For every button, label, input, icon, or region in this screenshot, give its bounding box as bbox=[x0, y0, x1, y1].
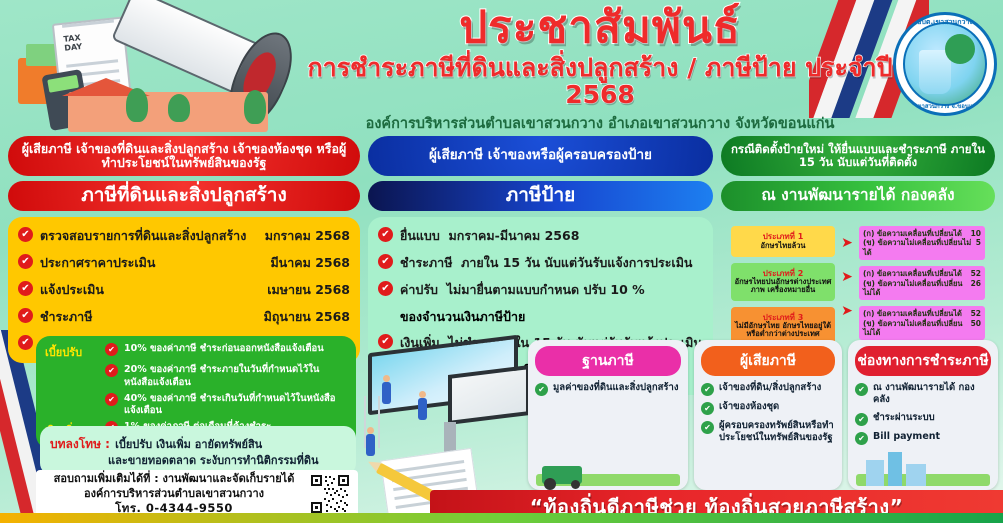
list-item-label: เจ้าของห้องชุด bbox=[719, 401, 779, 415]
billboard-secondary-icon bbox=[448, 365, 530, 425]
check-icon: ✔ bbox=[378, 281, 393, 296]
contact-text: สอบถามเพิ่มเติมได้ที่ : งานพัฒนาและจัดเก… bbox=[44, 472, 304, 516]
sign-category: ประเภทที่ 2 อักษรไทยปนอักษรต่างประเทศภาพ… bbox=[731, 263, 835, 301]
list-item-label: ยื่นแบบ bbox=[400, 228, 440, 243]
list-item-value: มิถุนายน 2568 bbox=[264, 307, 350, 327]
check-icon: ✔ bbox=[855, 413, 868, 426]
rate-label: (ก) ข้อความเคลื่อนที่เปลี่ยนได้ bbox=[863, 309, 962, 318]
list-item-label: Bill payment bbox=[873, 431, 940, 445]
contact-line-1: สอบถามเพิ่มเติมได้ที่ : งานพัฒนาและจัดเก… bbox=[44, 472, 304, 486]
city-illustration bbox=[856, 448, 990, 486]
list-item-value: มกราคม 2568 bbox=[265, 226, 350, 246]
list-item-label: ค่าปรับ bbox=[400, 282, 438, 297]
rate-value: 26 bbox=[971, 279, 981, 298]
poster-header: TAXDAY ประชาสัมพันธ์ การชำระภาษีที่ดินแล… bbox=[0, 0, 1003, 130]
list-item: ✔ มูลค่าของที่ดินและสิ่งปลูกสร้าง bbox=[535, 382, 681, 396]
penalty-fine-item: 20% ของค่าภาษี ชำระภายในวันที่กำหนดไว้ใน… bbox=[124, 364, 347, 390]
column-land-tax: ผู้เสียภาษี เจ้าของที่ดินและสิ่งปลูกสร้า… bbox=[8, 136, 360, 363]
check-icon: ✔ bbox=[701, 421, 714, 434]
legal-line-2: และขายทอดตลาด ระงับการทำนิติกรรมที่ดิน bbox=[50, 454, 346, 468]
check-icon: ✔ bbox=[18, 308, 33, 323]
list-item-value: มกราคม-มีนาคม 2568 bbox=[449, 228, 580, 243]
penalty-fine-item: 40% ของค่าภาษี ชำระเกินวันที่กำหนดไว้ในห… bbox=[124, 393, 347, 419]
tree-icon bbox=[126, 88, 148, 122]
legal-label: บทลงโทษ : bbox=[50, 437, 110, 451]
rate-value: 5 bbox=[976, 238, 981, 257]
table-row: (ข) ข้อความไม่เคลื่อนที่เปลี่ยนไม่ได้ 50 bbox=[863, 319, 981, 338]
list-item: ✔ ณ งานพัฒนารายได้ กองคลัง bbox=[855, 382, 991, 407]
arrow-column: ➤ ➤ ➤ bbox=[839, 226, 855, 351]
arrow-right-icon: ➤ bbox=[841, 304, 853, 318]
land-section-title: ภาษีที่ดินและสิ่งปลูกสร้าง bbox=[8, 181, 360, 211]
list-item-value: ไม่มายื่นตามแบบกำหนด ปรับ 10 % bbox=[447, 282, 645, 297]
rate-label: (ก) ข้อความเคลื่อนที่เปลี่ยนได้ bbox=[863, 229, 962, 238]
sign-taxpayer-banner: ผู้เสียภาษี เจ้าของหรือผู้ครอบครองป้าย bbox=[368, 136, 713, 176]
list-item: ✔ ชำระภาษี ภายใน 15 วัน นับแต่วันรับแจ้ง… bbox=[378, 253, 703, 273]
rate-table: (ก) ข้อความเคลื่อนที่เปลี่ยนได้ 10 (ข) ข… bbox=[859, 226, 985, 260]
list-item: ✔ ประกาศราคาประเมิน มีนาคม 2568 bbox=[18, 253, 350, 273]
qr-code-icon[interactable] bbox=[310, 474, 350, 514]
card-tax-base: ฐานภาษี ✔ มูลค่าของที่ดินและสิ่งปลูกสร้า… bbox=[528, 340, 688, 490]
card-payment-channels: ช่องทางการชำระภาษี ✔ ณ งานพัฒนารายได้ กอ… bbox=[848, 340, 998, 490]
worker-icon bbox=[382, 382, 391, 404]
list-item: ✔ ชำระผ่านระบบ bbox=[855, 412, 991, 426]
list-item-label: ประกาศราคาประเมิน bbox=[40, 253, 263, 273]
list-item-label: ชำระผ่านระบบ bbox=[873, 412, 935, 426]
card-title: ผู้เสียภาษี bbox=[701, 346, 835, 376]
check-icon: ✔ bbox=[701, 402, 714, 415]
list-item-label: ณ งานพัฒนารายได้ กองคลัง bbox=[873, 382, 991, 407]
arrow-right-icon: ➤ bbox=[841, 236, 853, 250]
list-item-label: ชำระภาษี bbox=[400, 255, 452, 270]
rate-value: 10 bbox=[971, 229, 981, 238]
land-taxpayer-banner: ผู้เสียภาษี เจ้าของที่ดินและสิ่งปลูกสร้า… bbox=[8, 136, 360, 176]
rate-label: (ข) ข้อความไม่เคลื่อนที่เปลี่ยนไม่ได้ bbox=[863, 238, 972, 257]
sign-category-list: ประเภทที่ 1 อักษรไทยล้วน ประเภทที่ 2 อัก… bbox=[731, 226, 835, 351]
new-sign-notice-banner: กรณีติดตั้งป้ายใหม่ ให้ยื่นแบบและชำระภาษ… bbox=[721, 136, 995, 176]
building-icon bbox=[906, 464, 926, 486]
check-icon: ✔ bbox=[18, 254, 33, 269]
penalty-group-fine: ✔ 20% ของค่าภาษี ชำระภายในวันที่กำหนดไว้… bbox=[45, 364, 347, 390]
list-item-label: ผู้ครอบครองทรัพย์สินหรือทำประโยชน์ในทรัพ… bbox=[719, 420, 835, 445]
list-item: ✔ เจ้าของที่ดิน/สิ่งปลูกสร้าง bbox=[701, 382, 835, 396]
list-item-label: ชำระภาษี bbox=[40, 307, 257, 327]
list-item: ✔ ตรวจสอบรายการที่ดินและสิ่งปลูกสร้าง มก… bbox=[18, 226, 350, 246]
page-title: ประชาสัมพันธ์ bbox=[300, 4, 900, 52]
penalty-group-fine: เบี้ยปรับ ✔ 10% ของค่าภาษี ชำระก่อนออกหน… bbox=[45, 343, 347, 361]
worker-icon bbox=[366, 434, 375, 456]
tractor-icon bbox=[542, 466, 582, 484]
table-row: (ก) ข้อความเคลื่อนที่เปลี่ยนได้ 52 bbox=[863, 269, 981, 278]
header-illustration: TAXDAY bbox=[8, 6, 308, 128]
penalty-group-fine: ✔ 40% ของค่าภาษี ชำระเกินวันที่กำหนดไว้ใ… bbox=[45, 393, 347, 419]
list-item: ✔ เจ้าของห้องชุด bbox=[701, 401, 835, 415]
arrow-right-icon: ➤ bbox=[841, 270, 853, 284]
category-desc: อักษรไทยปนอักษรต่างประเทศภาพ เครื่องหมาย… bbox=[733, 278, 833, 294]
list-item: ✔ ผู้ครอบครองทรัพย์สินหรือทำประโยชน์ในทร… bbox=[701, 420, 835, 445]
payment-location-title: ณ งานพัฒนารายได้ กองคลัง bbox=[721, 181, 995, 211]
tree-icon bbox=[168, 94, 190, 122]
poster-root: อบต.เขาสวนกวาง อ.เขาสวนกวาง จ.ขอนแก่น TA… bbox=[0, 0, 1003, 523]
check-icon: ✔ bbox=[105, 364, 118, 377]
list-item: ✔ ค่าปรับ ไม่มายื่นตามแบบกำหนด ปรับ 10 % bbox=[378, 280, 703, 300]
sign-section-title: ภาษีป้าย bbox=[368, 181, 713, 211]
list-item-detail: ของจำนวนเงินภาษีป้าย bbox=[378, 307, 703, 327]
building-icon bbox=[866, 460, 884, 486]
card-title: ฐานภาษี bbox=[535, 346, 681, 376]
organization-name: องค์การบริหารส่วนตำบลเขาสวนกวาง อำเภอเขา… bbox=[300, 112, 900, 135]
legal-line-1: เบี้ยปรับ เงินเพิ่ม อายัดทรัพย์สิน bbox=[115, 438, 262, 451]
penalty-fine-item: 10% ของค่าภาษี ชำระก่อนออกหนังสือแจ้งเตื… bbox=[124, 343, 324, 356]
check-icon: ✔ bbox=[701, 383, 714, 396]
rate-value: 52 bbox=[971, 309, 981, 318]
penalty-fine-label: เบี้ยปรับ bbox=[45, 343, 99, 361]
rate-label: (ข) ข้อความไม่เคลื่อนที่เปลี่ยนไม่ได้ bbox=[863, 319, 967, 338]
table-row: (ก) ข้อความเคลื่อนที่เปลี่ยนได้ 10 bbox=[863, 229, 981, 238]
rates-panel: ประเภทที่ 1 อักษรไทยล้วน ประเภทที่ 2 อัก… bbox=[721, 217, 995, 360]
list-item-value: เมษายน 2568 bbox=[267, 280, 350, 300]
rate-table: (ก) ข้อความเคลื่อนที่เปลี่ยนได้ 52 (ข) ข… bbox=[859, 306, 985, 340]
list-item: ✔ Bill payment bbox=[855, 431, 991, 445]
column-sign-rates: กรณีติดตั้งป้ายใหม่ ให้ยื่นแบบและชำระภาษ… bbox=[721, 136, 995, 360]
list-item: ✔ ยื่นแบบ มกราคม-มีนาคม 2568 bbox=[378, 226, 703, 246]
table-row: (ข) ข้อความไม่เคลื่อนที่เปลี่ยนไม่ได้ 26 bbox=[863, 279, 981, 298]
rate-label: (ก) ข้อความเคลื่อนที่เปลี่ยนได้ bbox=[863, 269, 962, 278]
check-icon: ✔ bbox=[18, 227, 33, 242]
table-row: (ก) ข้อความเคลื่อนที่เปลี่ยนได้ 52 bbox=[863, 309, 981, 318]
rate-table: (ก) ข้อความเคลื่อนที่เปลี่ยนได้ 52 (ข) ข… bbox=[859, 266, 985, 300]
card-taxpayer: ผู้เสียภาษี ✔ เจ้าของที่ดิน/สิ่งปลูกสร้า… bbox=[694, 340, 842, 490]
list-item-label: เจ้าของที่ดิน/สิ่งปลูกสร้าง bbox=[719, 382, 821, 396]
contact-line-2: องค์การบริหารส่วนตำบลเขาสวนกวาง bbox=[44, 487, 304, 501]
check-icon: ✔ bbox=[18, 281, 33, 296]
category-desc: อักษรไทยล้วน bbox=[733, 242, 833, 250]
rate-value: 52 bbox=[971, 269, 981, 278]
check-icon: ✔ bbox=[105, 393, 118, 406]
check-icon: ✔ bbox=[535, 383, 548, 396]
list-item-label: ตรวจสอบรายการที่ดินและสิ่งปลูกสร้าง bbox=[40, 226, 258, 246]
check-icon: ✔ bbox=[105, 343, 118, 356]
header-title-block: ประชาสัมพันธ์ การชำระภาษีที่ดินและสิ่งปล… bbox=[300, 4, 900, 135]
list-item: ✔ แจ้งประเมิน เมษายน 2568 bbox=[18, 280, 350, 300]
card-title: ช่องทางการชำระภาษี bbox=[855, 346, 991, 376]
rate-value: 50 bbox=[971, 319, 981, 338]
rate-label: (ข) ข้อความไม่เคลื่อนที่เปลี่ยนไม่ได้ bbox=[863, 279, 967, 298]
list-item-value: ภายใน 15 วัน นับแต่วันรับแจ้งการประเมิน bbox=[461, 255, 692, 270]
check-icon: ✔ bbox=[855, 383, 868, 396]
list-item-value: มีนาคม 2568 bbox=[270, 253, 350, 273]
bottom-color-strip bbox=[0, 513, 1003, 523]
contact-panel: สอบถามเพิ่มเติมได้ที่ : งานพัฒนาและจัดเก… bbox=[36, 470, 358, 518]
sign-category: ประเภทที่ 1 อักษรไทยล้วน bbox=[731, 226, 835, 257]
worker-icon bbox=[418, 398, 427, 420]
rate-table-list: (ก) ข้อความเคลื่อนที่เปลี่ยนได้ 10 (ข) ข… bbox=[859, 226, 985, 351]
check-icon: ✔ bbox=[378, 254, 393, 269]
category-desc: ไม่มีอักษรไทย อักษรไทยอยู่ใต้หรือต่ำกว่า… bbox=[733, 322, 833, 338]
tree-icon bbox=[244, 90, 266, 124]
check-icon: ✔ bbox=[855, 432, 868, 445]
check-icon: ✔ bbox=[18, 335, 33, 350]
legal-consequence-panel: บทลงโทษ : เบี้ยปรับ เงินเพิ่ม อายัดทรัพย… bbox=[40, 426, 356, 475]
list-item-label: แจ้งประเมิน bbox=[40, 280, 260, 300]
farm-illustration bbox=[536, 448, 680, 486]
list-item-label: มูลค่าของที่ดินและสิ่งปลูกสร้าง bbox=[553, 382, 679, 396]
page-subtitle: การชำระภาษีที่ดินและสิ่งปลูกสร้าง / ภาษี… bbox=[300, 54, 900, 109]
table-row: (ข) ข้อความไม่เคลื่อนที่เปลี่ยนไม่ได้ 5 bbox=[863, 238, 981, 257]
building-icon bbox=[888, 452, 902, 486]
check-icon: ✔ bbox=[378, 227, 393, 242]
list-item: ✔ ชำระภาษี มิถุนายน 2568 bbox=[18, 307, 350, 327]
